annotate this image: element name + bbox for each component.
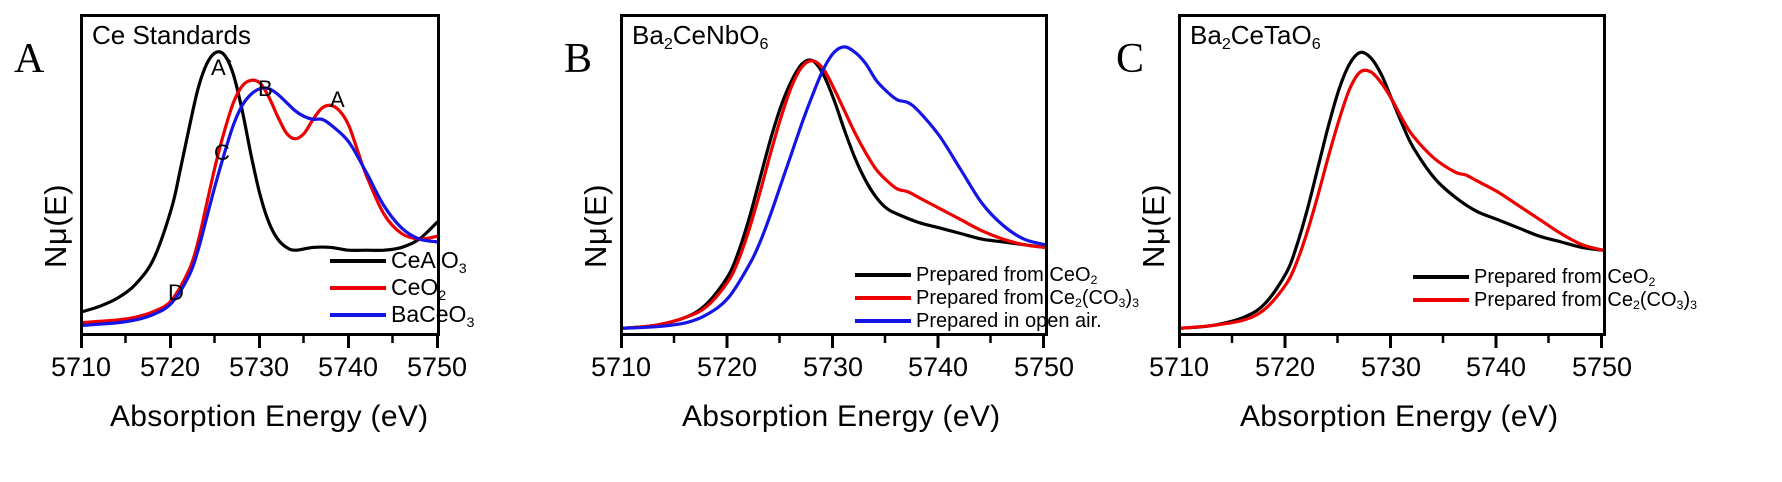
panel-a-xtick-0: 5710 — [51, 352, 111, 383]
panel-c-legend: Prepared from CeO2 Prepared from Ce2(CO3… — [1413, 265, 1697, 311]
legend-swatch-prepared-from-ceo2 — [1413, 275, 1469, 279]
legend-label-prepared-from-ce2co33: Prepared from Ce2(CO3)3 — [1474, 290, 1697, 310]
panel-b-xtick-0: 5710 — [591, 352, 651, 383]
panel-a-title-text: Ce Standards — [92, 20, 251, 50]
legend-swatch-prepared-from-ceo2 — [855, 273, 911, 277]
legend-label-ceo2: CeO2 — [391, 276, 446, 299]
panel-c: C Ba2CeTaO6 Nμ(E) Absorption Energy (eV)… — [1166, 0, 1782, 482]
legend-label-prepared-from-ceo2: Prepared from CeO2 — [1474, 267, 1655, 287]
panel-a-xtick-2: 5730 — [229, 352, 289, 383]
panel-a-annotation-c: C — [214, 140, 230, 166]
legend-swatch-baceo3 — [330, 313, 386, 317]
panel-b-xlabel: Absorption Energy (eV) — [682, 400, 1000, 434]
panel-c-xtick-2: 5730 — [1361, 352, 1421, 383]
legend-swatch-prepared-from-ce2co33 — [855, 296, 911, 300]
legend-swatch-ceo2 — [330, 286, 386, 290]
legend-swatch-prepared-from-ce2co33 — [1413, 298, 1469, 302]
panel-c-xtick-4: 5750 — [1572, 352, 1632, 383]
legend-item-prepared-from-ceo2[interactable]: Prepared from CeO2 — [1413, 265, 1697, 288]
panel-a-legend: CeAlO3 CeO2 BaCeO3 — [330, 247, 474, 328]
panel-a-annotation-d: D — [168, 280, 184, 306]
panel-a-xtick-3: 5740 — [318, 352, 378, 383]
panel-a-xtick-4: 5750 — [407, 352, 467, 383]
panel-c-xtick-3: 5740 — [1466, 352, 1526, 383]
panel-b-title: Ba2CeNbO6 — [632, 22, 768, 48]
legend-item-prepared-from-ce2co33[interactable]: Prepared from Ce2(CO3)3 — [1413, 288, 1697, 311]
panel-a-xlabel: Absorption Energy (eV) — [110, 400, 428, 434]
legend-label-prepared-from-ce2co33: Prepared from Ce2(CO3)3 — [916, 288, 1139, 308]
panel-b-ylabel: Nμ(E) — [578, 184, 614, 268]
panel-a-annotation-a: A — [330, 87, 345, 113]
panel-a-letter: A — [14, 38, 44, 80]
panel-b-xaxis-ticks — [620, 336, 1050, 350]
legend-label-baceo3: BaCeO3 — [391, 303, 474, 326]
panel-a-annotation-b: B — [258, 76, 273, 102]
legend-item-ceo2[interactable]: CeO2 — [330, 274, 474, 301]
panel-c-letter: C — [1116, 38, 1144, 80]
panel-a-title: Ce Standards — [92, 22, 251, 48]
legend-item-baceo3[interactable]: BaCeO3 — [330, 301, 474, 328]
panel-a-ylabel: Nμ(E) — [38, 184, 74, 268]
legend-swatch-prepared-in-open-air — [855, 319, 911, 323]
legend-label-prepared-in-open-air: Prepared in open air. — [916, 311, 1102, 331]
panel-c-xtick-1: 5720 — [1255, 352, 1315, 383]
panel-a-xtick-1: 5720 — [140, 352, 200, 383]
panel-b-letter: B — [564, 38, 592, 80]
panel-c-xtick-0: 5710 — [1149, 352, 1209, 383]
panel-b-xtick-3: 5740 — [908, 352, 968, 383]
legend-swatch-cealo3 — [330, 259, 386, 263]
panel-b-xtick-2: 5730 — [803, 352, 863, 383]
legend-item-prepared-from-ce2co33[interactable]: Prepared from Ce2(CO3)3 — [855, 286, 1139, 309]
panel-b-xtick-4: 5750 — [1014, 352, 1074, 383]
legend-label-prepared-from-ceo2: Prepared from CeO2 — [916, 265, 1097, 285]
panel-b-legend: Prepared from CeO2 Prepared from Ce2(CO3… — [855, 263, 1139, 332]
panel-b-xtick-1: 5720 — [697, 352, 757, 383]
legend-item-cealo3[interactable]: CeAlO3 — [330, 247, 474, 274]
panel-c-ylabel: Nμ(E) — [1136, 184, 1172, 268]
legend-label-cealo3: CeAlO3 — [391, 249, 467, 272]
panel-a-xaxis-ticks — [80, 336, 442, 350]
legend-item-prepared-in-open-air[interactable]: Prepared in open air. — [855, 309, 1139, 332]
panel-c-title: Ba2CeTaO6 — [1190, 22, 1321, 48]
panel-b: B Ba2CeNbO6 Nμ(E) Absorption Energy (eV)… — [550, 0, 1166, 482]
panel-c-xlabel: Absorption Energy (eV) — [1240, 400, 1558, 434]
legend-item-prepared-from-ceo2[interactable]: Prepared from CeO2 — [855, 263, 1139, 286]
panel-a: A Ce Standards Nμ(E) Absorption Energy (… — [0, 0, 550, 482]
panel-a-annotation-aprime: A` — [211, 55, 233, 81]
xanes-figure: A Ce Standards Nμ(E) Absorption Energy (… — [0, 0, 1782, 482]
panel-c-xaxis-ticks — [1178, 336, 1608, 350]
